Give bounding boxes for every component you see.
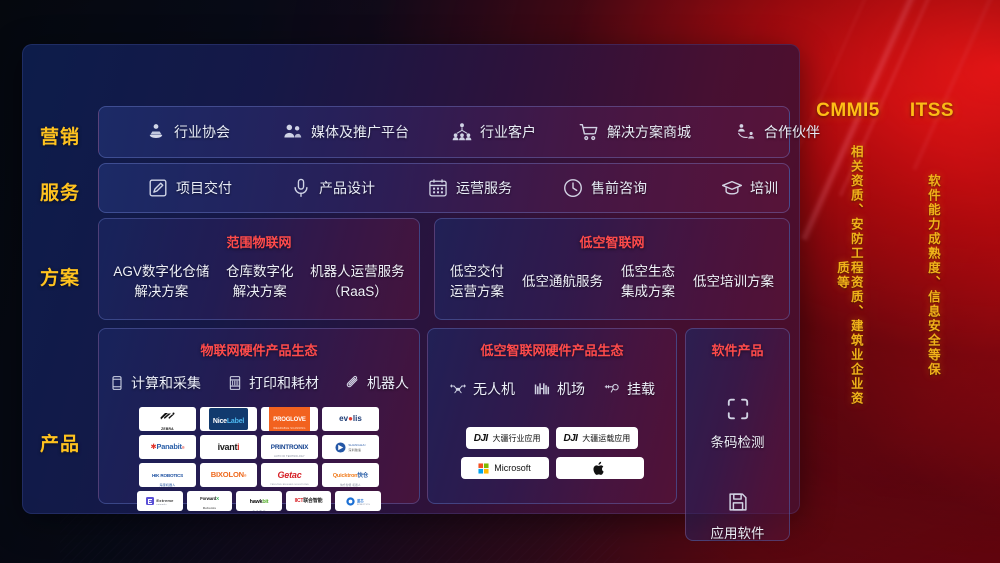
marketing-item-label: 行业客户 (480, 122, 536, 142)
network-users-icon (451, 121, 473, 143)
apple-logo (593, 461, 606, 476)
product-category-payload[interactable]: 挂载 (603, 379, 655, 399)
product-panel-lowaltitude-hardware: 低空智联网硬件产品生态 无人机 机场 挂载 DJI 大疆行业应用 (427, 328, 677, 504)
brand-row: DJI 大疆行业应用 DJI 大疆运载应用 (428, 427, 676, 449)
logo-evolis[interactable]: ev●lis (322, 407, 379, 431)
capability-map-card: 营销 行业协会 媒体及推广平台 行业客户 解决方案商城 合作伙伴 服务 项目交付 (22, 44, 800, 514)
product-category-drone[interactable]: 无人机 (449, 379, 515, 399)
barcode-scan-icon (725, 396, 751, 422)
solution-items: 低空交付运营方案 低空通航服务 低空生态集成方案 低空培训方案 (435, 251, 789, 313)
software-item-label: 条码检测 (711, 435, 765, 450)
category-label: 无人机 (473, 379, 515, 399)
product-category-row: 无人机 机场 挂载 (428, 379, 676, 399)
category-label: 机场 (557, 379, 585, 399)
product-panel-title: 物联网硬件产品生态 (99, 340, 419, 359)
brand-row: Microsoft (428, 457, 676, 479)
category-label: 计算和采集 (131, 373, 201, 393)
service-item-1[interactable]: 产品设计 (290, 177, 375, 199)
marketing-item-label: 媒体及推广平台 (311, 122, 409, 142)
solution-item[interactable]: 低空生态集成方案 (621, 262, 675, 301)
logo-row: Extremenetworks ForwardX Robotics 灵 动 科 … (137, 491, 381, 511)
brand-microsoft[interactable]: Microsoft (461, 457, 549, 479)
row-label-solution: 方案 (22, 263, 98, 290)
logo-zebra[interactable]: ZEBRA (139, 407, 196, 431)
row-label-marketing: 营销 (22, 122, 98, 149)
service-item-label: 售前咨询 (591, 178, 647, 198)
presenter-icon (145, 121, 167, 143)
brand-dji-industry[interactable]: DJI 大疆行业应用 (466, 427, 549, 449)
logo-iict[interactable]: IICT联合智能 (286, 491, 332, 511)
software-item-barcode[interactable]: 条码检测 (686, 396, 789, 451)
brand-label: 大疆行业应用 (493, 433, 541, 444)
printer-icon (227, 375, 243, 391)
product-panel-iot-hardware: 物联网硬件产品生态 计算和采集 打印和耗材 机器人 ZEBRA (98, 328, 420, 504)
brand-label: 大疆运载应用 (582, 433, 630, 444)
category-label: 机器人 (367, 373, 409, 393)
marketing-item-0[interactable]: 行业协会 (145, 121, 230, 143)
solution-panel-title: 范围物联网 (99, 232, 419, 251)
cert-column-cmmi5: CMMI5 相关资质、安防工程资质、建筑业企业资质等 (800, 100, 896, 410)
service-item-label: 项目交付 (176, 178, 232, 198)
marketing-row: 行业协会 媒体及推广平台 行业客户 解决方案商城 合作伙伴 (98, 106, 790, 158)
software-item-app[interactable]: 应用软件 (686, 491, 789, 542)
paperclip-robot-icon (345, 375, 361, 391)
row-label-service: 服务 (22, 178, 98, 205)
solution-items: AGV数字化仓储解决方案 仓库数字化解决方案 机器人运营服务（RaaS） (99, 251, 419, 313)
service-row: 项目交付 产品设计 运营服务 售前咨询 培训 (98, 163, 790, 213)
service-item-2[interactable]: 运营服务 (427, 177, 512, 199)
product-category-printing[interactable]: 打印和耗材 (227, 373, 319, 393)
logo-proglove[interactable]: PROGLOVE WEARABLE SCANNING (261, 407, 318, 431)
graduation-cap-icon (721, 177, 743, 199)
service-item-4[interactable]: 培训 (721, 177, 778, 199)
tablet-icon (109, 375, 125, 391)
service-item-0[interactable]: 项目交付 (147, 177, 232, 199)
marketing-item-3[interactable]: 解决方案商城 (578, 121, 691, 143)
airport-icon (533, 380, 551, 398)
logo-row: ZEBRA NiceLabel PROGLOVE WEARABLE SCANNI… (139, 407, 379, 431)
brand-grid: DJI 大疆行业应用 DJI 大疆运载应用 Microsoft (428, 427, 676, 479)
pencil-square-icon (147, 177, 169, 199)
solution-item[interactable]: 低空通航服务 (522, 272, 603, 292)
calendar-icon (427, 177, 449, 199)
solution-item[interactable]: AGV数字化仓储解决方案 (113, 262, 209, 301)
marketing-item-1[interactable]: 媒体及推广平台 (282, 121, 409, 143)
people-group-icon (282, 121, 304, 143)
floppy-disk-icon (727, 491, 749, 513)
microphone-icon (290, 177, 312, 199)
logo-hawkbit[interactable]: hawkbit 海 克 智 动 (236, 491, 282, 511)
logo-row: HIK ROBOTICS 海康机器人 BIXOLON® Getac TRUSTE… (139, 463, 379, 487)
service-item-label: 产品设计 (319, 178, 375, 198)
microsoft-logo (478, 463, 489, 474)
solution-item[interactable]: 低空培训方案 (693, 272, 774, 292)
service-item-label: 运营服务 (456, 178, 512, 198)
brand-apple[interactable] (556, 457, 644, 479)
logo-panabit[interactable]: ✱Panabit® (139, 435, 196, 459)
product-panel-software: 软件产品 条码检测 应用软件 (685, 328, 790, 541)
clock-icon (562, 177, 584, 199)
cert-title: CMMI5 (800, 100, 896, 122)
product-category-compute[interactable]: 计算和采集 (109, 373, 201, 393)
logo-bluerobot[interactable]: 蓝芯ROBOTICS (335, 491, 381, 511)
handshake-partner-icon (735, 121, 757, 143)
partner-logo-grid: ZEBRA NiceLabel PROGLOVE WEARABLE SCANNI… (99, 407, 419, 511)
service-item-3[interactable]: 售前咨询 (562, 177, 647, 199)
software-item-label: 应用软件 (711, 526, 765, 541)
logo-hikrobotics[interactable]: HIK ROBOTICS 海康机器人 (139, 463, 196, 487)
product-panel-title: 低空智联网硬件产品生态 (428, 340, 676, 359)
logo-rs[interactable]: SHANGHAI深圳融速 (322, 435, 379, 459)
dji-logo: DJI (474, 433, 488, 444)
row-label-product: 产品 (22, 429, 98, 456)
logo-quicktron[interactable]: Quicktron快仓 快仓智能 机器人 (322, 463, 379, 487)
service-item-label: 培训 (750, 178, 778, 198)
product-category-airport[interactable]: 机场 (533, 379, 585, 399)
dji-logo: DJI (564, 433, 578, 444)
solution-item[interactable]: 机器人运营服务（RaaS） (310, 262, 405, 301)
marketing-item-label: 解决方案商城 (607, 122, 691, 142)
marketing-item-2[interactable]: 行业客户 (451, 121, 536, 143)
category-label: 挂载 (627, 379, 655, 399)
cert-title: ITSS (884, 100, 980, 122)
logo-getac[interactable]: Getac TRUSTED RUGGED SOLUTIONS (261, 463, 318, 487)
logo-forwardx[interactable]: ForwardX Robotics 灵 动 科 技 (187, 491, 233, 511)
solution-item[interactable]: 仓库数字化解决方案 (226, 262, 294, 301)
logo-extreme[interactable]: Extremenetworks (137, 491, 183, 511)
product-category-robot[interactable]: 机器人 (345, 373, 409, 393)
brand-dji-delivery[interactable]: DJI 大疆运载应用 (556, 427, 639, 449)
payload-icon (603, 380, 621, 398)
cert-vertical-text: 软件能力成熟度、信息安全等保 (925, 140, 939, 410)
product-panel-title: 软件产品 (686, 340, 789, 359)
solution-panel-iot: 范围物联网 AGV数字化仓储解决方案 仓库数字化解决方案 机器人运营服务（Raa… (98, 218, 420, 320)
category-label: 打印和耗材 (249, 373, 319, 393)
cert-vertical-text: 相关资质、安防工程资质、建筑业企业资质等 (834, 140, 862, 410)
brand-label: Microsoft (494, 463, 531, 473)
logo-nicelabel[interactable]: NiceLabel (200, 407, 257, 431)
product-category-row: 计算和采集 打印和耗材 机器人 (99, 373, 419, 393)
solution-item[interactable]: 低空交付运营方案 (450, 262, 504, 301)
logo-row: ✱Panabit® ivanti PRINTRONIX AUTO ID TECH… (139, 435, 379, 459)
logo-printronix[interactable]: PRINTRONIX AUTO ID TECHNOLOGY (261, 435, 318, 459)
logo-bixolon[interactable]: BIXOLON® (200, 463, 257, 487)
cert-column-itss: ITSS 软件能力成熟度、信息安全等保 (884, 100, 980, 410)
marketing-item-label: 行业协会 (174, 122, 230, 142)
logo-ivanti[interactable]: ivanti (200, 435, 257, 459)
solution-panel-title: 低空智联网 (435, 232, 789, 251)
drone-icon (449, 380, 467, 398)
solution-panel-lowaltitude: 低空智联网 低空交付运营方案 低空通航服务 低空生态集成方案 低空培训方案 (434, 218, 790, 320)
shopping-cart-icon (578, 121, 600, 143)
